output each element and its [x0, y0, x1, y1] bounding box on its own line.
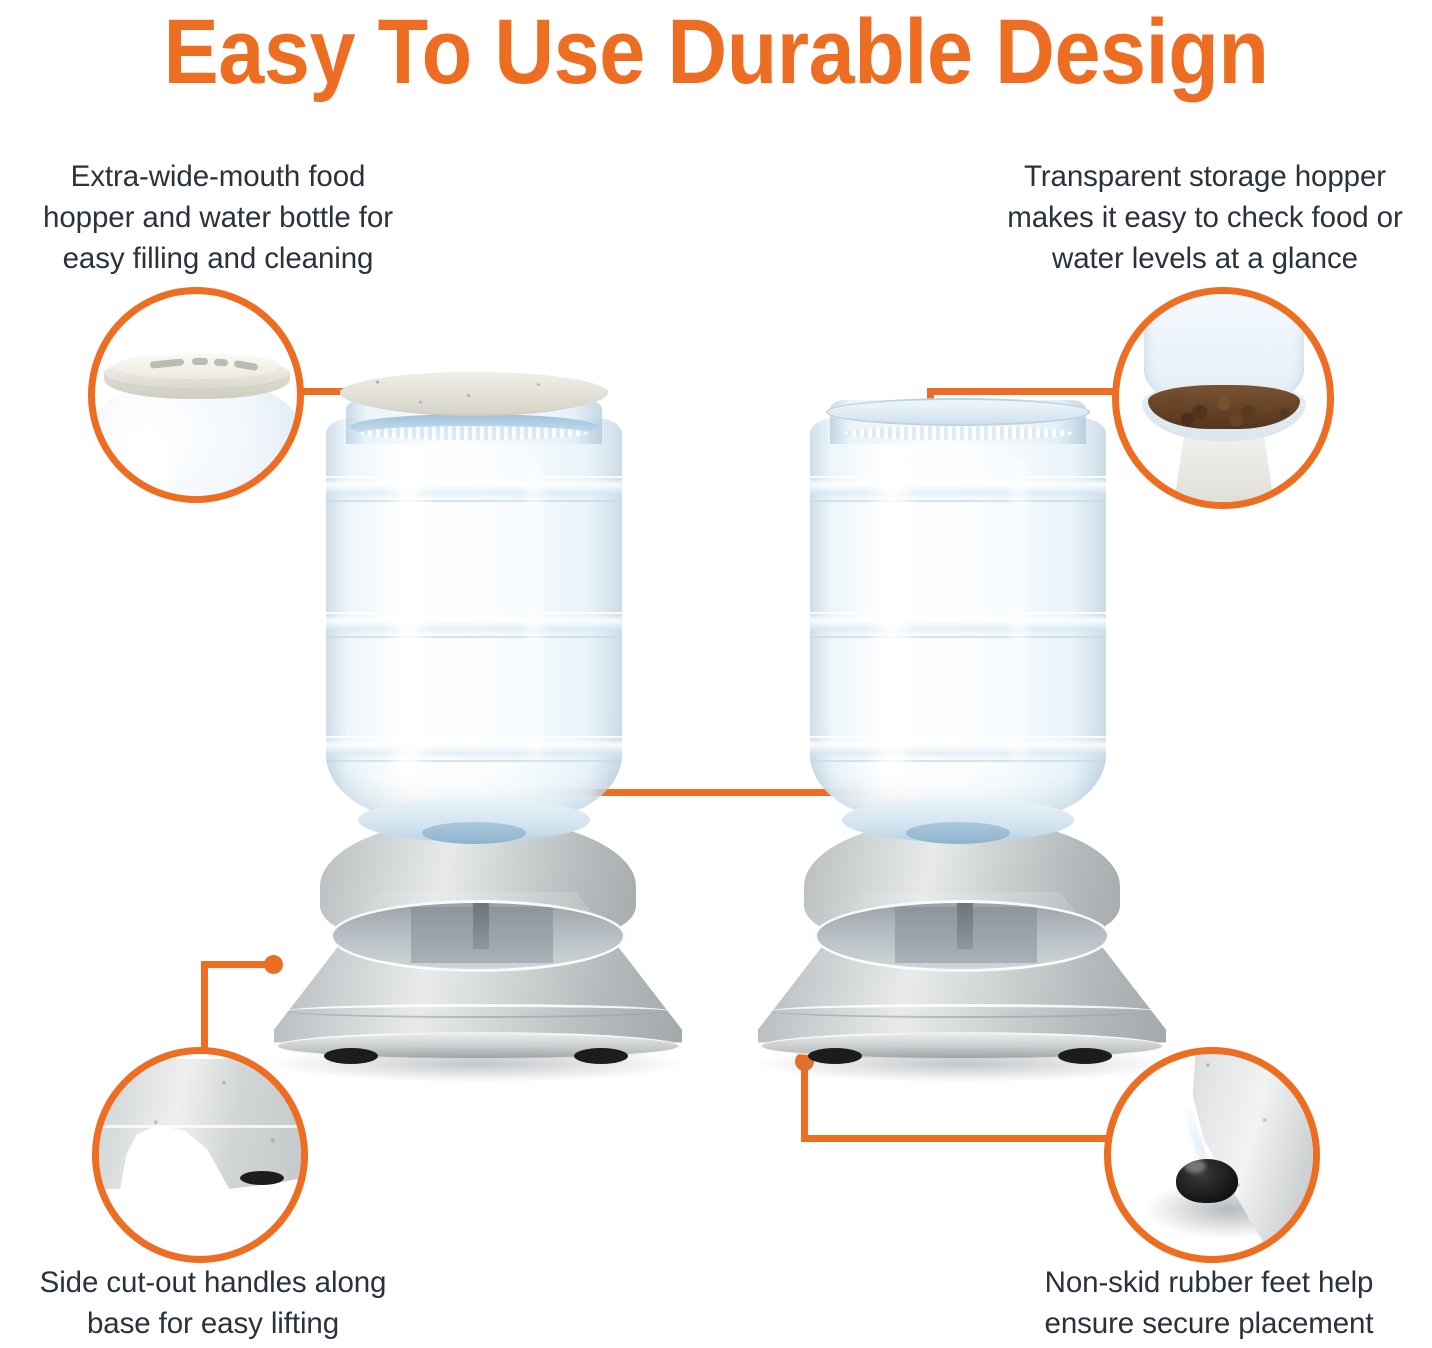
caption-line: Transparent storage hopper	[986, 156, 1424, 197]
base-assembly-right	[752, 818, 1172, 1070]
rubber-foot	[1058, 1048, 1112, 1064]
callout-image-transparent-hopper	[1112, 287, 1334, 509]
product-left-water-dispenser	[268, 370, 688, 1070]
caption-non-skid-rubber-feet: Non-skid rubber feet help ensure secure …	[994, 1262, 1424, 1344]
bottle-highlight	[1006, 460, 1032, 760]
caption-line: hopper and water bottle for	[18, 197, 418, 238]
caption-line: easy filling and cleaning	[18, 238, 418, 279]
callout-image-side-cutout-handle	[92, 1047, 308, 1263]
bottle-rib	[326, 736, 622, 762]
base-ring	[286, 1004, 670, 1018]
leader-line-bottom-right-horizontal	[801, 1135, 1131, 1142]
wide-mouth-lid	[340, 372, 608, 414]
bowl-basin-opening	[330, 900, 626, 972]
lid-grip-slot	[214, 359, 228, 367]
bowl-basin-opening	[814, 900, 1110, 972]
base-assembly-left	[268, 818, 688, 1070]
bottle-highlight	[382, 446, 434, 776]
caption-transparent-hopper: Transparent storage hopper makes it easy…	[986, 156, 1424, 279]
bottle-collar	[906, 822, 1010, 844]
caption-line: water levels at a glance	[986, 238, 1424, 279]
lid-grip-slot	[192, 358, 208, 365]
caption-side-cutout-handles: Side cut-out handles along base for easy…	[8, 1262, 418, 1344]
bottle-wide-mouth-opening	[826, 398, 1090, 426]
callout-image-wide-mouth-lid	[88, 287, 304, 503]
kibble-pile	[1148, 385, 1300, 429]
bottle-inner-edge	[844, 426, 1072, 440]
caption-line: makes it easy to check food or	[986, 197, 1424, 238]
callout-image-rubber-foot	[1104, 1047, 1320, 1263]
bottle-highlight	[866, 446, 918, 776]
bottle-rib	[326, 612, 622, 638]
bottle-left	[326, 400, 622, 840]
caption-line: Non-skid rubber feet help	[994, 1262, 1424, 1303]
bottle-right	[810, 400, 1106, 840]
bottle-rib	[810, 612, 1106, 638]
rubber-foot	[574, 1048, 628, 1064]
callout-circle-wide-mouth-lid	[88, 287, 304, 503]
water-foam-line	[360, 426, 588, 440]
bottle-collar	[422, 822, 526, 844]
callout-circle-transparent-hopper	[1112, 287, 1334, 509]
rubber-foot	[240, 1171, 284, 1185]
rubber-foot	[808, 1048, 862, 1064]
bowl-divider	[473, 903, 489, 949]
closeup-highlight	[118, 427, 172, 503]
caption-extra-wide-mouth: Extra-wide-mouth food hopper and water b…	[18, 156, 418, 279]
caption-line: ensure secure placement	[994, 1303, 1424, 1344]
callout-circle-side-cutout-handle	[92, 1047, 308, 1263]
page-title: Easy To Use Durable Design	[72, 2, 1361, 102]
bottle-highlight	[522, 460, 548, 760]
bottle-rib	[810, 476, 1106, 502]
leader-line-bottom-left-horizontal	[201, 961, 273, 968]
caption-line: Extra-wide-mouth food	[18, 156, 418, 197]
caption-line: base for easy lifting	[8, 1303, 418, 1344]
rubber-foot	[324, 1048, 378, 1064]
caption-line: Side cut-out handles along	[8, 1262, 418, 1303]
callout-circle-rubber-foot	[1104, 1047, 1320, 1263]
rubber-foot-highlight	[1184, 1159, 1206, 1173]
bottle-rib	[326, 476, 622, 502]
bottle-rib	[810, 736, 1106, 762]
product-right-food-dispenser	[752, 370, 1172, 1070]
bowl-divider	[957, 903, 973, 949]
base-ring	[770, 1004, 1154, 1018]
